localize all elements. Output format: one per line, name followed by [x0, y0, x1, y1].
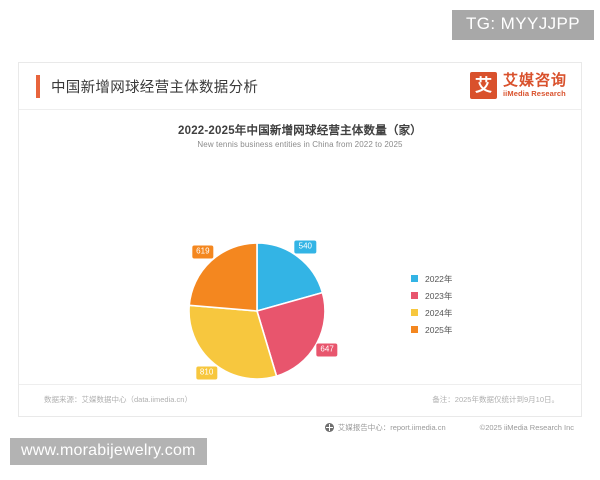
pie-svg [187, 241, 327, 381]
legend-label: 2024年 [425, 307, 452, 319]
report-center-link[interactable]: 艾媒报告中心：report.iimedia.cn [325, 422, 446, 433]
pie-data-label-2025年: 619 [192, 246, 213, 259]
legend-swatch-icon [411, 326, 418, 333]
legend-swatch-icon [411, 309, 418, 316]
accent-bar-icon [36, 75, 40, 98]
legend-item-2024[interactable]: 2024年 [411, 304, 452, 321]
iimedia-logo: 艾 艾媒咨询 iiMedia Research [470, 72, 567, 99]
data-source-note: 数据来源：艾媒数据中心（data.iimedia.cn） [44, 394, 192, 405]
pie-data-label-2022年: 540 [295, 241, 316, 254]
brand-name-cn: 艾媒咨询 [503, 73, 567, 88]
legend-swatch-icon [411, 275, 418, 282]
chart-area: 2022-2025年中国新增网球经营主体数量（家） New tennis bus… [19, 110, 581, 385]
legend-label: 2025年 [425, 324, 452, 336]
report-card: 中国新增网球经营主体数据分析 艾 艾媒咨询 iiMedia Research 2… [18, 62, 582, 417]
legend-label: 2022年 [425, 273, 452, 285]
legend-swatch-icon [411, 292, 418, 299]
telegram-watermark-badge: TG: MYYJJPP [452, 10, 594, 40]
report-page: TG: MYYJJPP 中国新增网球经营主体数据分析 艾 艾媒咨询 iiMedi… [0, 0, 600, 480]
card-header: 中国新增网球经营主体数据分析 艾 艾媒咨询 iiMedia Research [19, 63, 581, 110]
brand-text: 艾媒咨询 iiMedia Research [503, 73, 567, 98]
card-footer: 数据来源：艾媒数据中心（data.iimedia.cn） 备注：2025年数据仅… [19, 384, 581, 416]
copyright-label: ©2025 iiMedia Research Inc [480, 423, 574, 432]
globe-icon [325, 423, 334, 432]
brand-mark-icon: 艾 [470, 72, 497, 99]
page-title: 中国新增网球经营主体数据分析 [51, 76, 258, 97]
copyright-notice: ©2025 iiMedia Research Inc [480, 423, 574, 432]
chart-legend: 2022年 2023年 2024年 2025年 [411, 270, 452, 338]
report-center-label: 艾媒报告中心：report.iimedia.cn [338, 422, 446, 433]
chart-subtitle: New tennis business entities in China fr… [19, 140, 581, 149]
remark-note: 备注：2025年数据仅统计到9月10日。 [432, 394, 559, 405]
legend-item-2023[interactable]: 2023年 [411, 287, 452, 304]
legend-item-2025[interactable]: 2025年 [411, 321, 452, 338]
bottom-bar: 艾媒报告中心：report.iimedia.cn ©2025 iiMedia R… [18, 417, 582, 437]
chart-title: 2022-2025年中国新增网球经营主体数量（家） [19, 122, 581, 138]
site-watermark: www.morabijewelry.com [10, 438, 207, 465]
pie-data-label-2023年: 647 [316, 343, 337, 356]
brand-name-en: iiMedia Research [503, 90, 567, 98]
legend-item-2022[interactable]: 2022年 [411, 270, 452, 287]
legend-label: 2023年 [425, 290, 452, 302]
pie-data-label-2024年: 810 [196, 367, 217, 380]
pie-chart: 540647810619 [187, 241, 327, 381]
